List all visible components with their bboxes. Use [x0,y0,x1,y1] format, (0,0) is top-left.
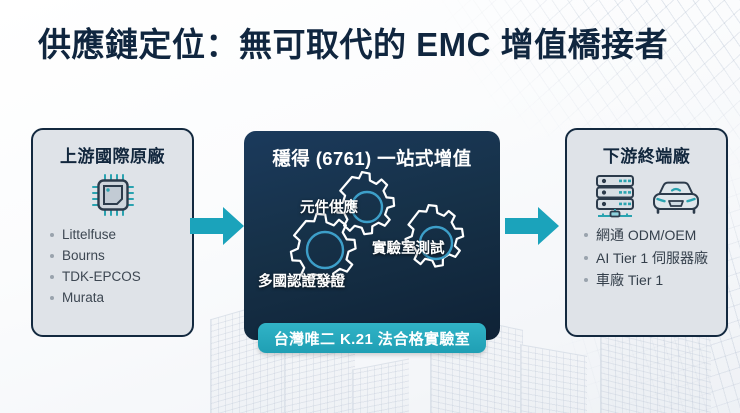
downstream-list: 網通 ODM/OEM AI Tier 1 伺服器廠 車廠 Tier 1 [567,225,726,291]
gear-cluster: 元件供應 實驗室測試 多國認證發證 [244,171,500,311]
gear-label-multinational-certification: 多國認證發證 [258,270,345,291]
downstream-icon-row [567,169,726,225]
server-rack-icon [592,172,640,223]
list-item: AI Tier 1 伺服器廠 [583,248,726,269]
upstream-heading: 上游國際原廠 [33,130,192,167]
downstream-panel: 下游終端廠 [565,128,728,337]
status-badge-k21-lab: 台灣唯二 K.21 法合格實驗室 [258,323,486,353]
arrow-right-icon-upstream-to-center [190,205,245,247]
list-item: 網通 ODM/OEM [583,225,726,246]
center-heading: 穩得 (6761) 一站式增值 [244,145,500,171]
list-item: 車廠 Tier 1 [583,270,726,291]
upstream-list: Littelfuse Bourns TDK-EPCOS Murata [33,225,192,307]
upstream-panel: 上游國際原廠 [31,128,194,337]
list-item: Bourns [49,246,192,265]
downstream-heading: 下游終端廠 [567,130,726,167]
slide-canvas: 供應鏈定位：無可取代的 EMC 增值橋接者 上游國際原廠 [0,0,740,413]
center-value-panel: 穩得 (6761) 一站式增值 元件供應 實驗室測試 多國認證發證 [244,131,500,340]
arrow-right-icon-center-to-downstream [505,205,560,247]
upstream-icon-row [33,169,192,225]
page-title: 供應鏈定位：無可取代的 EMC 增值橋接者 [38,26,708,65]
list-item: Littelfuse [49,225,192,244]
gear-label-component-supply: 元件供應 [300,196,358,217]
car-front-icon [650,173,702,222]
list-item: Murata [49,288,192,307]
list-item: TDK-EPCOS [49,267,192,286]
gear-label-lab-testing: 實驗室測試 [372,237,445,258]
microchip-icon [90,172,136,223]
